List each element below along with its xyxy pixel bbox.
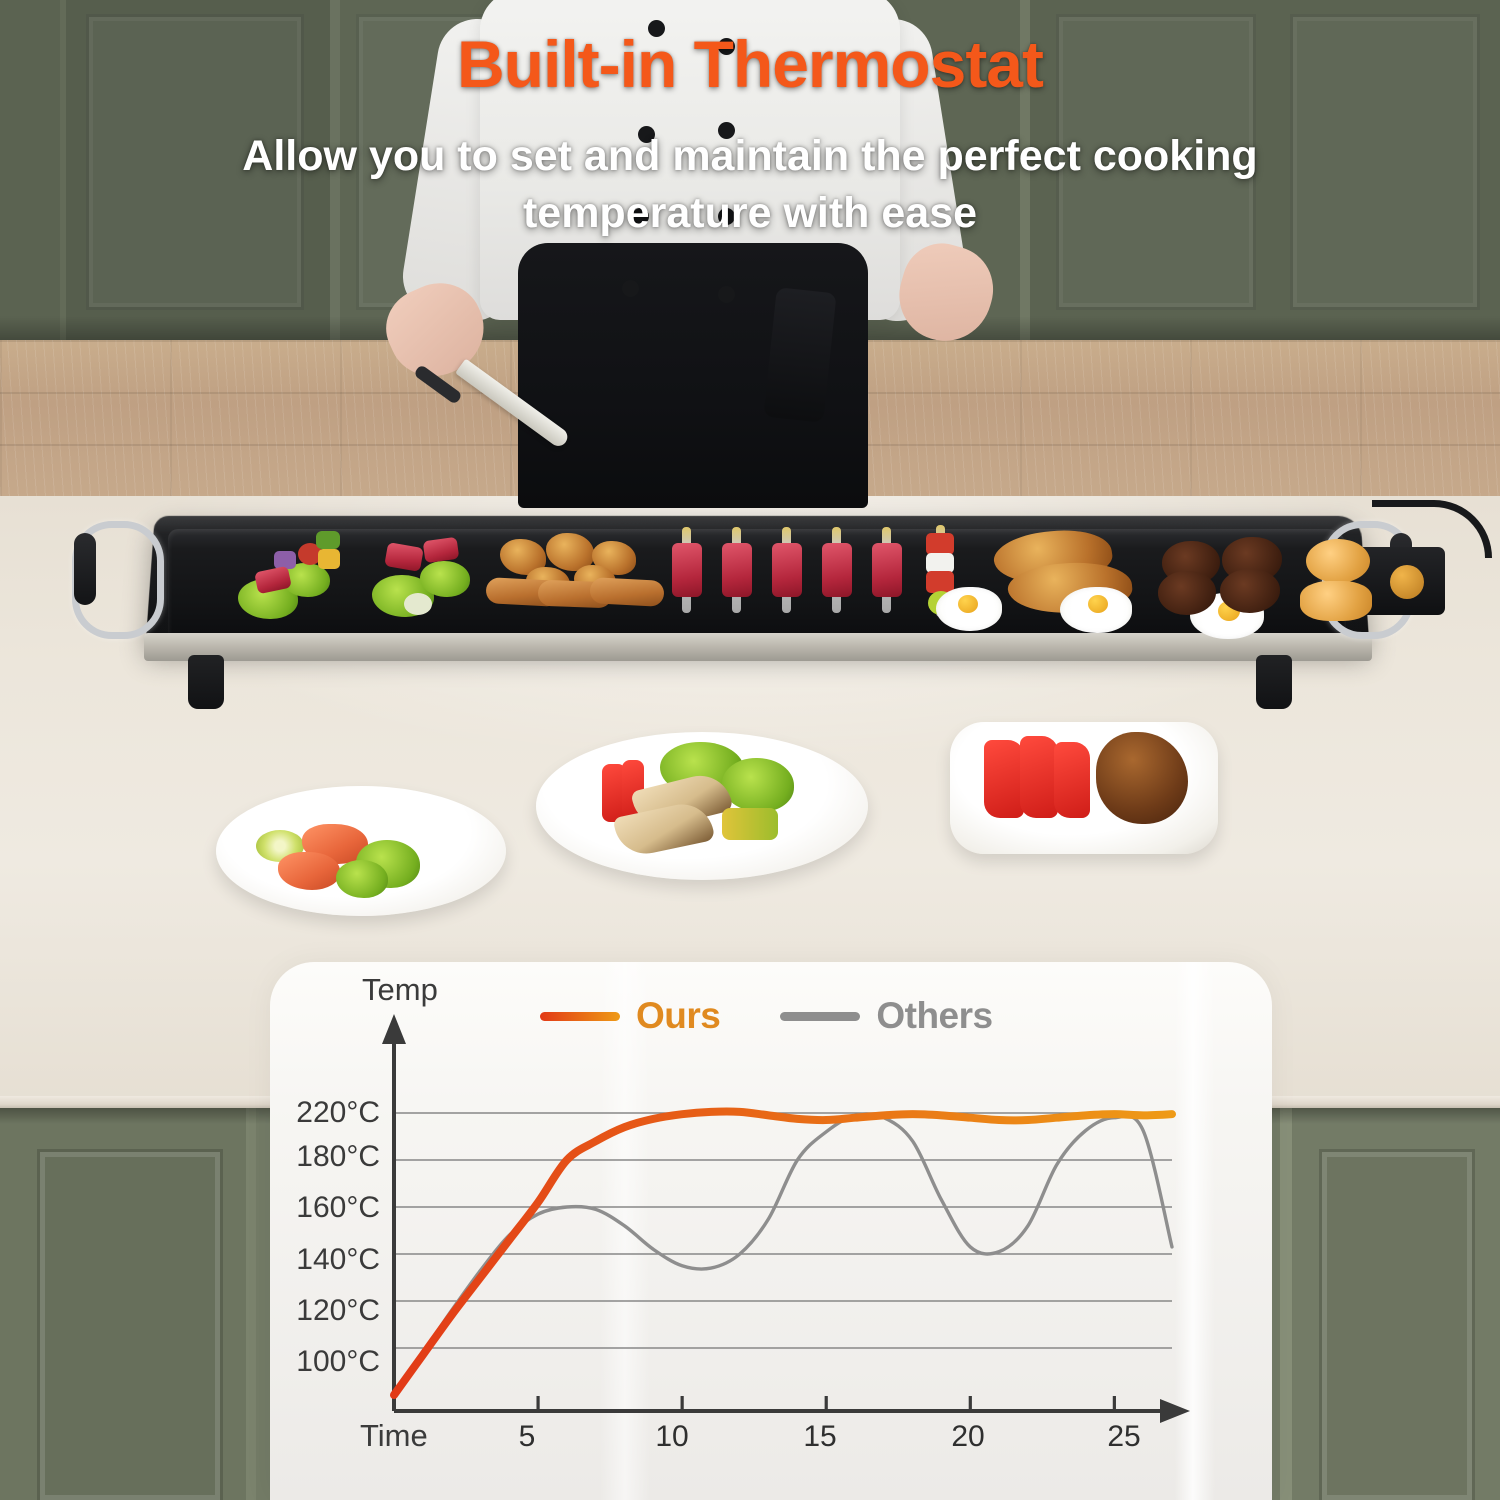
- x-tick-20: 20: [928, 1420, 1008, 1454]
- y-tick-140: 140°C: [190, 1243, 380, 1277]
- legend-item-others[interactable]: Others: [780, 995, 992, 1037]
- chart-legend: Ours Others: [540, 995, 993, 1037]
- x-tick-10: 10: [632, 1420, 712, 1454]
- y-tick-220: 220°C: [190, 1096, 380, 1130]
- y-tick-180: 180°C: [190, 1140, 380, 1174]
- y-axis-arrow: [382, 1014, 406, 1044]
- y-tick-120: 120°C: [190, 1294, 380, 1328]
- legend-label-others: Others: [876, 995, 992, 1037]
- x-axis-arrow: [1160, 1399, 1190, 1423]
- legend-item-ours[interactable]: Ours: [540, 995, 720, 1037]
- x-tick-15: 15: [780, 1420, 860, 1454]
- x-axis-label: Time: [360, 1418, 428, 1454]
- legend-label-ours: Ours: [636, 995, 720, 1037]
- x-tick-5: 5: [487, 1420, 567, 1454]
- x-axis-ticks: [538, 1396, 1114, 1411]
- chart-gridlines: [394, 1113, 1172, 1348]
- y-tick-160: 160°C: [190, 1191, 380, 1225]
- y-tick-100: 100°C: [190, 1345, 380, 1379]
- legend-swatch-others: [780, 1012, 860, 1021]
- x-tick-25: 25: [1084, 1420, 1164, 1454]
- product-marketing-image: Built-in Thermostat Allow you to set and…: [0, 0, 1500, 1500]
- legend-swatch-ours: [540, 1012, 620, 1021]
- y-axis-label: Temp: [362, 972, 438, 1008]
